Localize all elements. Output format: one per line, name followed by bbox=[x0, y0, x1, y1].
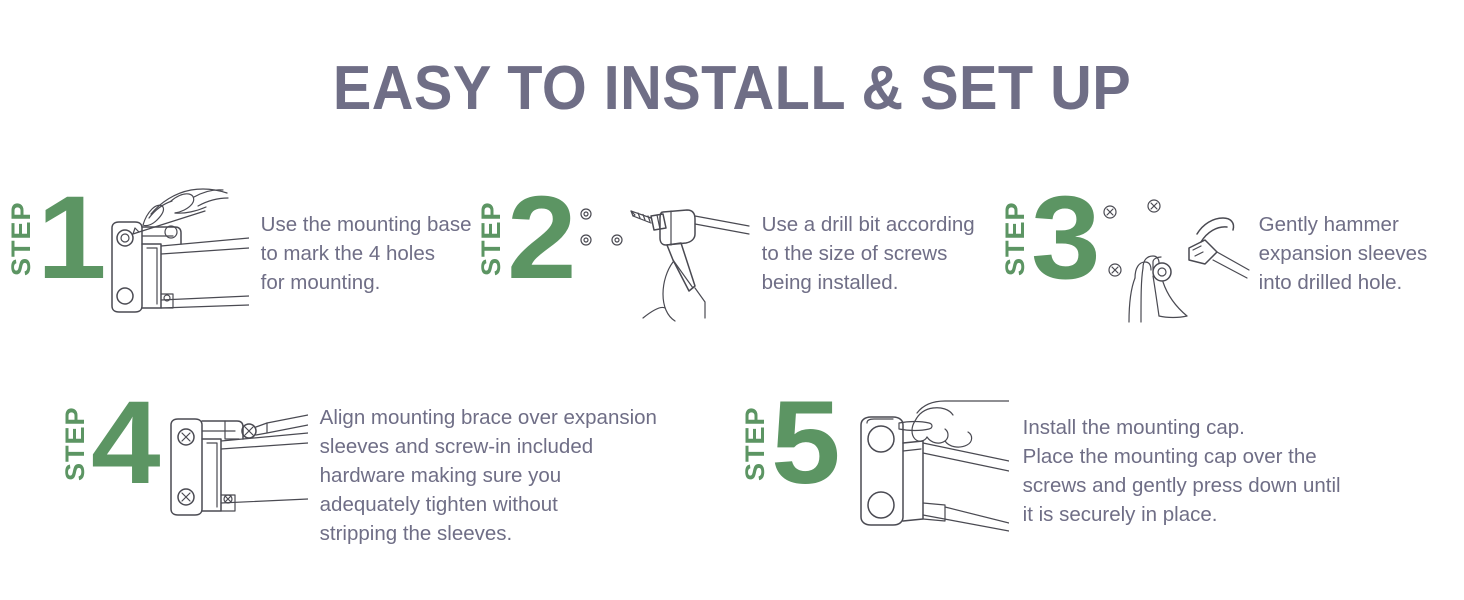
step-block-2: STEP 2 bbox=[478, 190, 1012, 325]
step-badge-3: STEP 3 bbox=[1002, 190, 1097, 287]
drill-hole-marks bbox=[581, 209, 622, 245]
step-word-label-3: STEP bbox=[1002, 191, 1029, 287]
step-number-2: 2 bbox=[507, 190, 577, 287]
step-number-1: 1 bbox=[37, 190, 107, 287]
step-badge-1: STEP 1 bbox=[8, 190, 103, 287]
step-block-5: STEP 5 bbox=[742, 395, 1393, 535]
step-description-5: Install the mounting cap. Place the moun… bbox=[1023, 413, 1393, 529]
step-description-1: Use the mounting base to mark the 4 hole… bbox=[261, 210, 501, 297]
step-illustration-4 bbox=[163, 399, 308, 529]
step-number-4: 4 bbox=[91, 395, 161, 492]
step-word-label-5: STEP bbox=[742, 396, 769, 492]
step-illustration-1 bbox=[99, 184, 249, 319]
step-block-1: STEP 1 bbox=[8, 190, 501, 319]
step-block-3: STEP 3 bbox=[1002, 190, 1449, 325]
step-illustration-2 bbox=[577, 190, 752, 325]
step-number-5: 5 bbox=[771, 395, 841, 492]
step-word-label-1: STEP bbox=[8, 191, 35, 287]
step-illustration-5 bbox=[849, 395, 1009, 535]
infographic-page: EASY TO INSTALL & SET UP STEP 1 bbox=[0, 0, 1464, 600]
step-badge-5: STEP 5 bbox=[742, 395, 837, 492]
step-illustration-3 bbox=[1101, 190, 1251, 325]
step-badge-4: STEP 4 bbox=[62, 395, 157, 492]
step-badge-2: STEP 2 bbox=[478, 190, 573, 287]
step-description-2: Use a drill bit according to the size of… bbox=[762, 210, 1012, 297]
step-word-label-4: STEP bbox=[62, 396, 89, 492]
step-description-3: Gently hammer expansion sleeves into dri… bbox=[1259, 210, 1449, 297]
drill-hole-marks bbox=[1104, 200, 1160, 276]
step-block-4: STEP 4 bbox=[62, 395, 700, 549]
step-word-label-2: STEP bbox=[478, 191, 505, 287]
step-number-3: 3 bbox=[1031, 190, 1101, 287]
page-title: EASY TO INSTALL & SET UP bbox=[51, 58, 1413, 120]
step-description-4: Align mounting brace over expansion slee… bbox=[320, 403, 700, 549]
